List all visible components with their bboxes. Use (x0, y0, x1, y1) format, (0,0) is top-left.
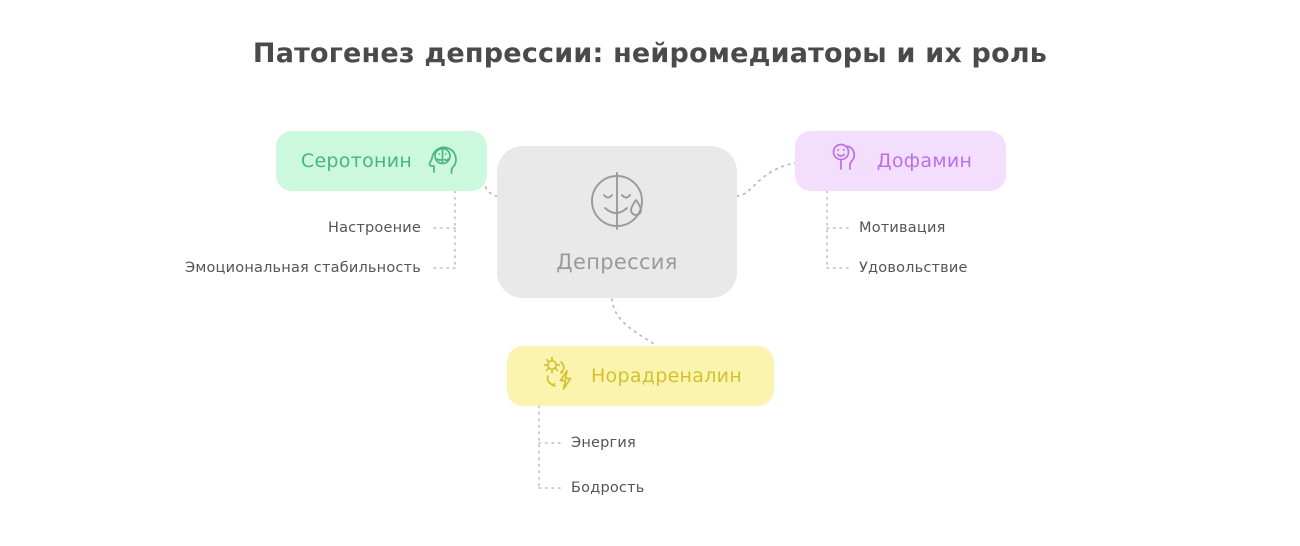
sun-lightning-bolt-icon (539, 354, 579, 398)
node-noradrenaline-label: Норадреналин (591, 365, 742, 387)
sublabel-serotonin-0: Настроение (121, 220, 421, 236)
node-depression[interactable]: Депрессия (497, 146, 737, 298)
page-title: Патогенез депрессии: нейромедиаторы и их… (0, 38, 1300, 69)
node-serotonin[interactable]: Серотонин (276, 131, 487, 191)
node-depression-label: Депрессия (556, 250, 677, 274)
node-dopamine[interactable]: Дофамин (795, 131, 1006, 191)
sublabel-serotonin-1: Эмоциональная стабильность (121, 260, 421, 276)
sublabel-dopamine-1: Удовольствие (859, 260, 968, 276)
head-with-face-circle-icon (426, 141, 462, 181)
split-happy-sad-face-icon (586, 170, 648, 236)
connector-center-noradrenaline (612, 299, 657, 346)
smiley-head-profile-icon (829, 141, 865, 181)
diagram-canvas: Патогенез депрессии: нейромедиаторы и их… (0, 0, 1300, 546)
sublabel-noradrenaline-0: Энергия (571, 435, 636, 451)
sublabel-noradrenaline-1: Бодрость (571, 480, 644, 496)
node-serotonin-label: Серотонин (301, 150, 412, 172)
node-noradrenaline[interactable]: Норадреналин (507, 346, 774, 406)
connector-center-dopamine (737, 163, 795, 196)
sublabel-dopamine-0: Мотивация (859, 220, 946, 236)
node-dopamine-label: Дофамин (877, 150, 973, 172)
